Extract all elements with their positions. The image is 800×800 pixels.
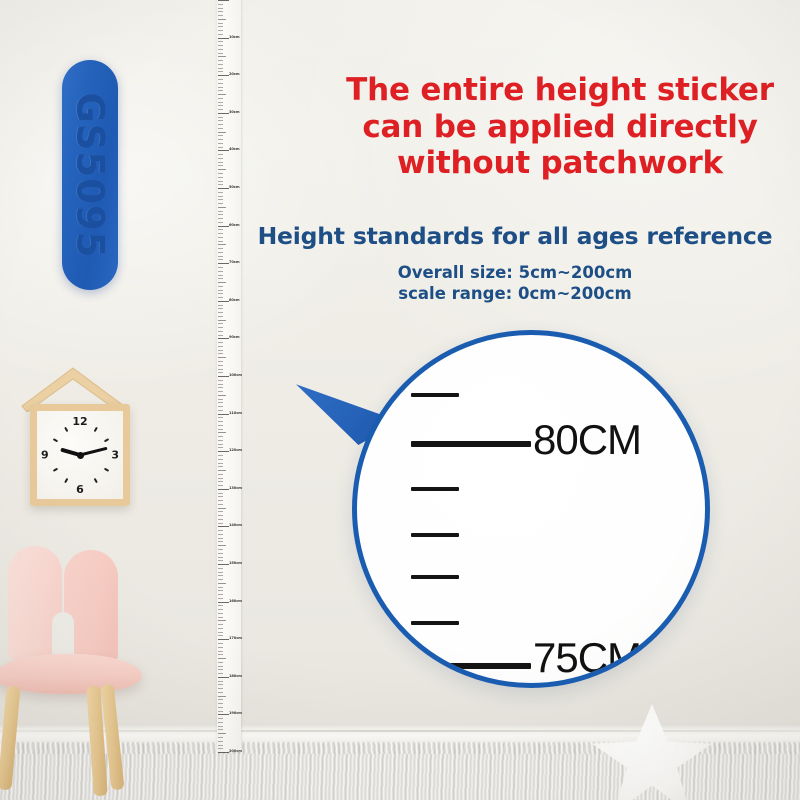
ruler-tick xyxy=(218,481,223,482)
ruler-label: 70cm xyxy=(229,261,239,265)
ruler-label: 60cm xyxy=(229,224,239,228)
ruler-tick xyxy=(218,267,223,268)
ruler-label: 130cm xyxy=(229,487,242,491)
ruler-tick xyxy=(218,244,226,245)
ruler-tick xyxy=(218,293,223,294)
ruler-tick xyxy=(218,241,223,242)
product-marketing-image: 12 3 6 9 xyxy=(0,0,800,800)
ruler-tick xyxy=(218,196,223,197)
ruler-tick xyxy=(218,203,223,204)
ruler-tick xyxy=(218,545,226,546)
ruler-tick xyxy=(218,278,223,279)
ruler-tick xyxy=(218,654,223,655)
ruler-tick xyxy=(218,94,226,95)
clock-numeral-12: 12 xyxy=(72,416,87,427)
ruler-label: 30cm xyxy=(229,111,239,115)
ruler-tick xyxy=(218,275,223,276)
ruler-tick xyxy=(218,436,223,437)
magnifier-label-75cm: 75CM xyxy=(533,637,641,679)
ruler-tick xyxy=(218,271,223,272)
ruler-tick xyxy=(218,718,223,719)
ruler-label: 200cm xyxy=(229,750,242,754)
ruler-tick xyxy=(218,666,223,667)
ruler-tick xyxy=(218,226,229,227)
ruler-tick xyxy=(218,4,223,5)
product-code-badge: GS5095 xyxy=(62,60,118,290)
ruler-tick xyxy=(218,353,223,354)
ruler-tick xyxy=(218,169,226,170)
ruler-tick xyxy=(218,602,229,603)
ruler-tick xyxy=(218,252,223,253)
ruler-tick xyxy=(218,15,223,16)
ruler-label: 40cm xyxy=(229,149,239,153)
ruler-tick xyxy=(218,207,226,208)
ruler-tick xyxy=(218,504,223,505)
headline-line-2: can be applied directly xyxy=(336,109,784,146)
ruler-tick xyxy=(218,301,229,302)
magnifier-tick xyxy=(411,393,459,397)
ruler-tick xyxy=(218,56,226,57)
ruler-tick xyxy=(218,79,223,80)
ruler-tick xyxy=(218,124,223,125)
ruler-tick xyxy=(218,357,226,358)
ruler-tick xyxy=(218,752,229,753)
headline-line-3: without patchwork xyxy=(336,145,784,182)
ruler-tick xyxy=(218,594,223,595)
ruler-tick xyxy=(218,681,223,682)
wall-clock: 12 3 6 9 xyxy=(18,366,128,494)
ruler-tick xyxy=(218,87,223,88)
ruler-tick xyxy=(218,729,223,730)
ruler-tick xyxy=(218,199,223,200)
magnifier-tick xyxy=(411,487,459,491)
ruler-tick xyxy=(218,256,223,257)
ruler-tick xyxy=(218,395,226,396)
ruler-tick xyxy=(218,128,223,129)
ruler-label: 90cm xyxy=(229,337,239,341)
magnifier-label-80cm: 80CM xyxy=(533,419,641,461)
ruler-tick xyxy=(218,338,229,339)
ruler-tick xyxy=(218,726,223,727)
ruler-tick xyxy=(218,113,229,114)
ruler-tick xyxy=(218,658,226,659)
ruler-tick xyxy=(218,429,223,430)
ruler-tick xyxy=(218,90,223,91)
clock-tick xyxy=(53,468,58,472)
ruler-tick xyxy=(218,417,223,418)
ruler-tick xyxy=(218,143,223,144)
ruler-tick xyxy=(218,511,223,512)
ruler-tick xyxy=(218,613,223,614)
ruler-tick xyxy=(218,68,223,69)
ruler-tick xyxy=(218,369,223,370)
ruler-tick xyxy=(218,188,229,189)
ruler-tick xyxy=(218,568,223,569)
magnifier-tick xyxy=(411,621,459,625)
ruler-tick xyxy=(218,538,223,539)
ruler-tick xyxy=(218,184,223,185)
ruler-tick xyxy=(218,282,226,283)
ruler-tick xyxy=(218,71,223,72)
ruler-tick xyxy=(218,553,223,554)
ruler-tick xyxy=(218,350,223,351)
ruler-tick xyxy=(218,327,223,328)
magnifier-tick xyxy=(411,533,459,537)
ruler-tick xyxy=(218,703,223,704)
ruler-tick xyxy=(218,399,223,400)
clock-tick xyxy=(104,468,109,472)
ruler-tick xyxy=(218,320,226,321)
ruler-tick xyxy=(218,53,223,54)
ruler-tick xyxy=(218,628,223,629)
ruler-tick xyxy=(218,346,223,347)
ruler-tick xyxy=(218,64,223,65)
ruler-tick xyxy=(218,177,223,178)
ruler-tick xyxy=(218,109,223,110)
ruler-tick xyxy=(218,722,223,723)
wall-height-ruler-tape: 10cm20cm30cm40cm50cm60cm70cm80cm90cm100c… xyxy=(217,0,241,752)
ruler-label: 150cm xyxy=(229,562,242,566)
ruler-tick xyxy=(218,444,223,445)
ruler-tick xyxy=(218,147,223,148)
spec-scale-range: scale range: 0cm~200cm xyxy=(244,283,786,304)
ruler-tick xyxy=(218,583,226,584)
ruler-tick xyxy=(218,150,229,151)
ruler-tick xyxy=(218,290,223,291)
ruler-tick xyxy=(218,45,223,46)
ruler-tick xyxy=(218,11,223,12)
ruler-tick xyxy=(218,34,223,35)
ruler-tick xyxy=(218,662,223,663)
clock-numeral-3: 3 xyxy=(111,450,119,461)
clock-numeral-6: 6 xyxy=(76,484,84,495)
ruler-tick xyxy=(218,643,223,644)
ruler-tick xyxy=(218,696,226,697)
ruler-tick xyxy=(218,387,223,388)
subheading: Height standards for all ages reference xyxy=(244,222,786,250)
ruler-tick xyxy=(218,23,223,24)
ruler-tick xyxy=(218,372,223,373)
ruler-tick xyxy=(218,335,223,336)
ruler-label: 160cm xyxy=(229,600,242,604)
ruler-tick xyxy=(218,466,223,467)
ruler-tick xyxy=(218,229,223,230)
ruler-tick xyxy=(218,455,223,456)
ruler-tick xyxy=(218,459,223,460)
ruler-tick xyxy=(218,560,223,561)
ruler-tick xyxy=(218,688,223,689)
ruler-tick xyxy=(218,30,223,31)
ruler-tick xyxy=(218,590,223,591)
ruler-tick xyxy=(218,237,223,238)
ruler-label: 10cm xyxy=(229,36,239,40)
ruler-tick xyxy=(218,421,223,422)
ruler-tick xyxy=(218,451,229,452)
clock-tick xyxy=(94,427,98,432)
magnifier-ruler-detail: 80CM 75CM xyxy=(357,335,695,673)
ruler-tick xyxy=(218,384,223,385)
ruler-label: 180cm xyxy=(229,675,242,679)
ruler-tick xyxy=(218,489,229,490)
ruler-tick xyxy=(218,677,229,678)
ruler-tick xyxy=(218,192,223,193)
product-code-label: GS5095 xyxy=(69,92,112,258)
ruler-tick xyxy=(218,478,223,479)
ruler-label: 100cm xyxy=(229,374,242,378)
ruler-tick xyxy=(218,447,223,448)
ruler-tick xyxy=(218,748,223,749)
clock-face: 12 3 6 9 xyxy=(37,411,123,499)
ruler-label: 110cm xyxy=(229,412,242,416)
ruler-tick xyxy=(218,342,223,343)
ruler-tick xyxy=(218,635,223,636)
clock-numeral-9: 9 xyxy=(41,450,49,461)
ruler-tick xyxy=(218,564,229,565)
ruler-tick xyxy=(218,41,223,42)
ruler-tick xyxy=(218,173,223,174)
ruler-tick xyxy=(218,557,223,558)
clock-tick xyxy=(64,427,68,432)
ruler-tick xyxy=(218,669,223,670)
ruler-tick xyxy=(218,485,223,486)
ruler-tick xyxy=(218,620,226,621)
ruler-tick xyxy=(218,598,223,599)
ruler-tick xyxy=(218,102,223,103)
ruler-tick xyxy=(218,432,226,433)
headline-line-1: The entire height sticker xyxy=(336,72,784,109)
ruler-tick-marks: 10cm20cm30cm40cm50cm60cm70cm80cm90cm100c… xyxy=(217,0,241,752)
ruler-tick xyxy=(218,741,223,742)
ruler-tick xyxy=(218,632,223,633)
ruler-tick xyxy=(218,406,223,407)
ruler-label: 50cm xyxy=(229,186,239,190)
ruler-tick xyxy=(218,308,223,309)
kids-bunny-chair xyxy=(0,546,166,760)
spec-list: Overall size: 5cm~200cm scale range: 0cm… xyxy=(244,262,786,304)
ruler-tick xyxy=(218,105,223,106)
ruler-tick xyxy=(218,745,223,746)
ruler-tick xyxy=(218,684,223,685)
ruler-tick xyxy=(218,737,223,738)
ruler-tick xyxy=(218,410,223,411)
clock-tick xyxy=(53,438,58,442)
magnifier-tick xyxy=(411,575,459,579)
ruler-tick xyxy=(218,609,223,610)
ruler-label: 20cm xyxy=(229,73,239,77)
clock-tick xyxy=(64,478,68,483)
ruler-tick xyxy=(218,711,223,712)
magnifier-tick xyxy=(411,441,531,447)
ruler-label: 190cm xyxy=(229,713,242,717)
ruler-tick xyxy=(218,117,223,118)
ruler-tick xyxy=(218,575,223,576)
ruler-tick xyxy=(218,233,223,234)
ruler-tick xyxy=(218,714,229,715)
ruler-tick xyxy=(218,132,226,133)
ruler-tick xyxy=(218,651,223,652)
ruler-tick xyxy=(218,526,229,527)
clock-center-hub xyxy=(77,452,84,459)
ruler-label: 170cm xyxy=(229,637,242,641)
spec-overall-size: Overall size: 5cm~200cm xyxy=(244,262,786,283)
ruler-tick xyxy=(218,530,223,531)
magnifier-callout: 80CM 75CM xyxy=(352,330,710,688)
ruler-tick xyxy=(218,248,223,249)
ruler-tick xyxy=(218,297,223,298)
ruler-tick xyxy=(218,83,223,84)
clock-frame: 12 3 6 9 xyxy=(30,404,130,506)
ruler-tick xyxy=(218,572,223,573)
ruler-tick xyxy=(218,139,223,140)
ruler-tick xyxy=(218,380,223,381)
ruler-tick xyxy=(218,699,223,700)
headline: The entire height sticker can be applied… xyxy=(336,72,784,182)
ruler-tick xyxy=(218,222,223,223)
clock-tick xyxy=(94,478,98,483)
ruler-tick xyxy=(218,120,223,121)
ruler-tick xyxy=(218,305,223,306)
ruler-tick xyxy=(218,523,223,524)
ruler-tick xyxy=(218,519,223,520)
ruler-tick xyxy=(218,211,223,212)
ruler-tick xyxy=(218,181,223,182)
ruler-tick xyxy=(218,365,223,366)
ruler-label: 80cm xyxy=(229,299,239,303)
ruler-tick xyxy=(218,158,223,159)
ruler-tick xyxy=(218,0,229,1)
ruler-tick xyxy=(218,470,226,471)
ruler-tick xyxy=(218,496,223,497)
ruler-tick xyxy=(218,692,223,693)
ruler-tick xyxy=(218,425,223,426)
ruler-tick xyxy=(218,579,223,580)
ruler-tick xyxy=(218,534,223,535)
ruler-tick xyxy=(218,474,223,475)
clock-tick xyxy=(104,438,109,442)
ruler-tick xyxy=(218,587,223,588)
ruler-tick xyxy=(218,60,223,61)
ruler-label: 140cm xyxy=(229,525,242,529)
ruler-tick xyxy=(218,218,223,219)
ruler-tick xyxy=(218,162,223,163)
ruler-tick xyxy=(218,331,223,332)
ruler-tick xyxy=(218,673,223,674)
ruler-tick xyxy=(218,361,223,362)
ruler-tick xyxy=(218,376,229,377)
ruler-tick xyxy=(218,135,223,136)
ruler-tick xyxy=(218,263,229,264)
ruler-tick xyxy=(218,49,223,50)
ruler-tick xyxy=(218,605,223,606)
ruler-tick xyxy=(218,391,223,392)
ruler-tick xyxy=(218,508,226,509)
ruler-tick xyxy=(218,154,223,155)
ruler-tick xyxy=(218,515,223,516)
ruler-tick xyxy=(218,26,223,27)
ruler-tick xyxy=(218,500,223,501)
ruler-tick xyxy=(218,316,223,317)
ruler-tick xyxy=(218,617,223,618)
ruler-tick xyxy=(218,98,223,99)
ruler-tick xyxy=(218,647,223,648)
ruler-tick xyxy=(218,19,226,20)
ruler-tick xyxy=(218,639,229,640)
ruler-tick xyxy=(218,259,223,260)
ruler-tick xyxy=(218,463,223,464)
ruler-tick xyxy=(218,323,223,324)
ruler-tick xyxy=(218,707,223,708)
ruler-tick xyxy=(218,286,223,287)
ruler-tick xyxy=(218,549,223,550)
ruler-tick xyxy=(218,414,229,415)
chair-seat xyxy=(0,654,142,694)
ruler-tick xyxy=(218,624,223,625)
ruler-tick xyxy=(218,75,229,76)
ruler-label: 120cm xyxy=(229,449,242,453)
ruler-tick xyxy=(218,402,223,403)
ruler-tick xyxy=(218,214,223,215)
ruler-tick xyxy=(218,440,223,441)
ruler-tick xyxy=(218,165,223,166)
ruler-tick xyxy=(218,541,223,542)
ruler-tick xyxy=(218,312,223,313)
ruler-tick xyxy=(218,493,223,494)
magnifier-tick xyxy=(411,663,531,669)
ruler-tick xyxy=(218,8,223,9)
ruler-tick xyxy=(218,733,226,734)
ruler-tick xyxy=(218,38,229,39)
